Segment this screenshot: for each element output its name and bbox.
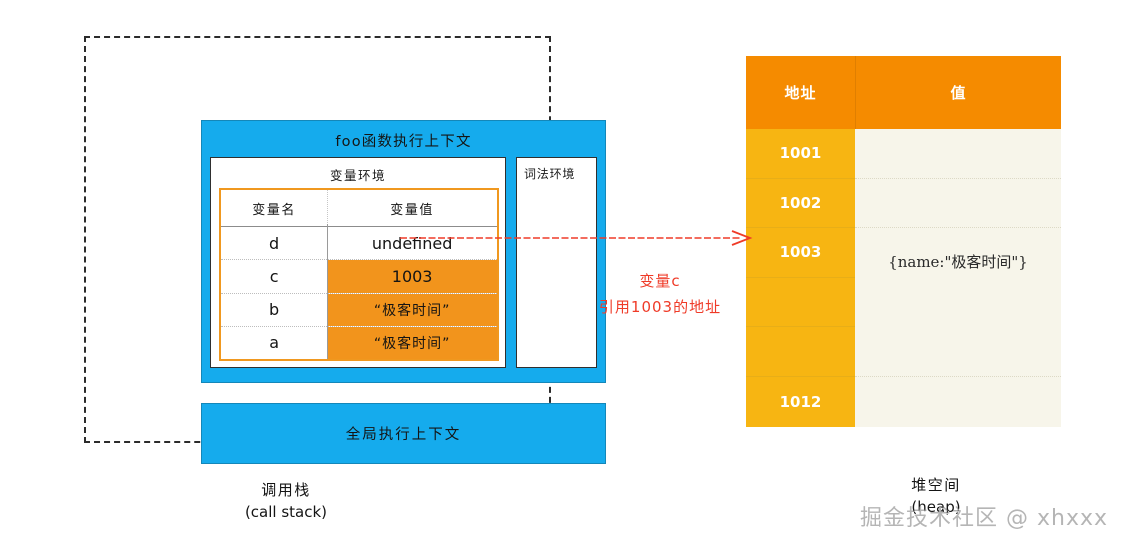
variable-environment-panel: 变量环境 变量名 变量值 d undefined c 1003 xyxy=(210,157,506,368)
global-context-title: 全局执行上下文 xyxy=(346,423,462,444)
heap-value-segment xyxy=(855,278,1061,328)
reference-arrow xyxy=(400,226,755,250)
lexical-environment-title: 词法环境 xyxy=(517,158,596,182)
heap-address-column: 地址 1001 1002 1003 1012 xyxy=(746,56,855,427)
heap-address-cell xyxy=(746,278,855,328)
reference-annotation: 变量c 引用1003的地址 xyxy=(565,268,755,320)
variable-name-d: d xyxy=(221,227,327,259)
call-stack-caption-en: (call stack) xyxy=(186,503,386,521)
call-stack-caption: 调用栈 (call stack) xyxy=(186,479,386,521)
lexical-environment-panel: 词法环境 xyxy=(516,157,597,368)
variable-table-header-name: 变量名 xyxy=(221,190,327,226)
heap-header-address: 地址 xyxy=(746,56,855,129)
heap-address-cell xyxy=(746,327,855,377)
variable-value-b: “极客时间” xyxy=(327,294,497,326)
heap-header-value: 值 xyxy=(855,56,1061,129)
heap-value-segment xyxy=(855,179,1061,229)
global-execution-context: 全局执行上下文 xyxy=(201,403,606,464)
variable-name-b: b xyxy=(221,294,327,326)
variable-table-header-row: 变量名 变量值 xyxy=(221,190,497,227)
annotation-line-2: 引用1003的地址 xyxy=(565,294,755,320)
heap-caption-cn: 堆空间 xyxy=(846,474,1026,495)
variable-value-c: 1003 xyxy=(327,260,497,292)
variable-environment-title: 变量环境 xyxy=(211,158,505,184)
heap-table: 地址 1001 1002 1003 1012 值 {name:"极客时间"} xyxy=(746,56,1061,427)
foo-context-title: foo函数执行上下文 xyxy=(202,130,605,151)
heap-value-segment xyxy=(855,377,1061,427)
variable-table: 变量名 变量值 d undefined c 1003 b “极客时间” xyxy=(219,188,499,361)
variable-table-header-value: 变量值 xyxy=(327,190,497,226)
variable-value-a: “极客时间” xyxy=(327,327,497,359)
watermark: 掘金技术社区 @ xhxxx xyxy=(860,500,1108,532)
table-row: a “极客时间” xyxy=(221,326,497,359)
diagram-canvas: foo函数执行上下文 变量环境 变量名 变量值 d undefined xyxy=(0,0,1142,551)
variable-name-a: a xyxy=(221,327,327,359)
heap-value-segment xyxy=(855,129,1061,179)
heap-object-value: {name:"极客时间"} xyxy=(855,251,1061,272)
heap-value-column: 值 {name:"极客时间"} xyxy=(855,56,1061,427)
heap-address-cell: 1012 xyxy=(746,377,855,427)
table-row: b “极客时间” xyxy=(221,293,497,326)
heap-address-cell: 1002 xyxy=(746,179,855,229)
table-row: c 1003 xyxy=(221,259,497,292)
call-stack-caption-cn: 调用栈 xyxy=(186,479,386,500)
foo-execution-context: foo函数执行上下文 变量环境 变量名 变量值 d undefined xyxy=(201,120,606,383)
annotation-line-1: 变量c xyxy=(565,268,755,294)
heap-address-cell: 1003 xyxy=(746,228,855,278)
variable-name-c: c xyxy=(221,260,327,292)
heap-value-segment xyxy=(855,327,1061,377)
heap-address-cell: 1001 xyxy=(746,129,855,179)
